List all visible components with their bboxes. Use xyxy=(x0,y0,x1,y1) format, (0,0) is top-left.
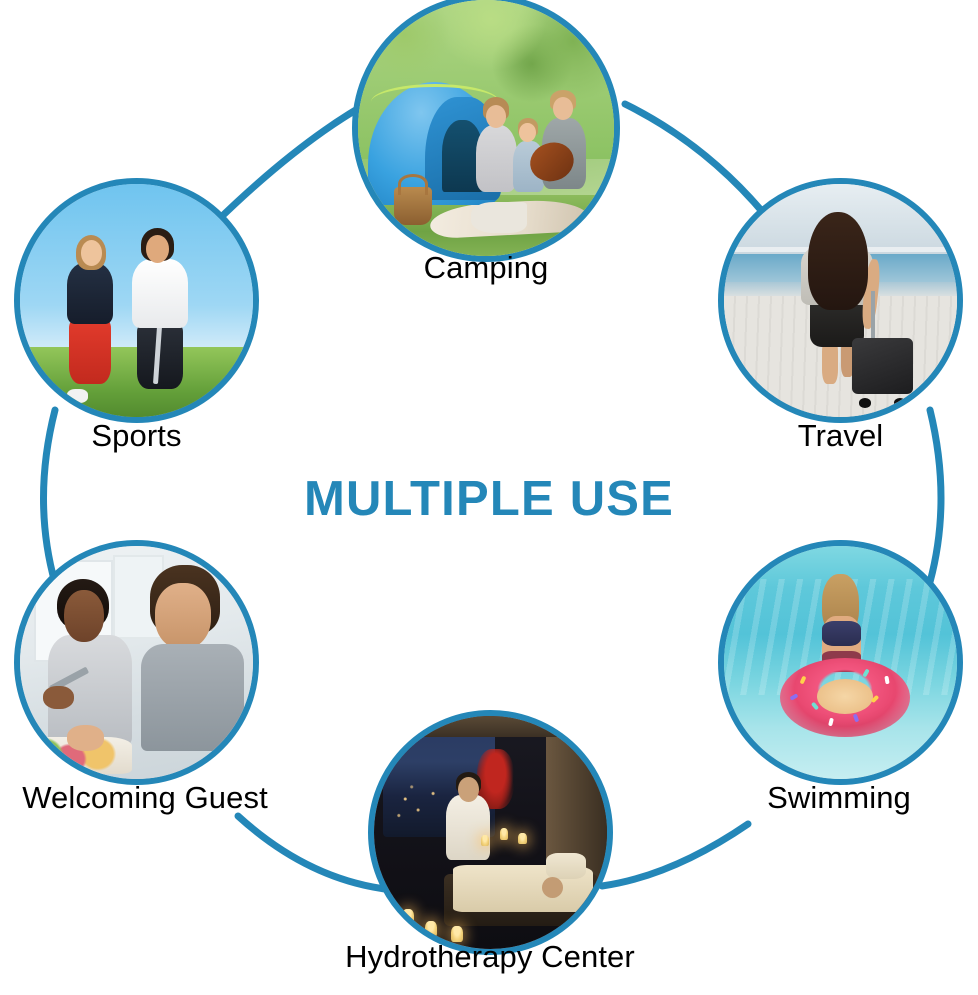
travel-scene xyxy=(724,184,957,417)
welcoming-guest-photo[interactable] xyxy=(14,540,259,785)
label-welcoming-guest: Welcoming Guest xyxy=(0,782,290,815)
swimming-scene xyxy=(724,546,957,779)
sports-scene xyxy=(20,184,253,417)
infographic-canvas: Camping Travel xyxy=(0,0,978,995)
welcoming-guest-scene xyxy=(20,546,253,779)
camping-scene xyxy=(358,0,614,256)
label-camping: Camping xyxy=(352,252,620,285)
label-swimming: Swimming xyxy=(700,782,978,815)
connector-hydrotherapy-to-welcoming xyxy=(238,816,385,889)
swimming-photo[interactable] xyxy=(718,540,963,785)
sports-photo[interactable] xyxy=(14,178,259,423)
camping-photo[interactable] xyxy=(352,0,620,262)
hydrotherapy-scene xyxy=(374,716,607,949)
label-sports: Sports xyxy=(14,420,259,453)
hydrotherapy-photo[interactable] xyxy=(368,710,613,955)
connector-swimming-to-hydrotherapy xyxy=(602,824,748,886)
label-hydrotherapy: Hydrotherapy Center xyxy=(300,941,680,974)
travel-photo[interactable] xyxy=(718,178,963,423)
label-travel: Travel xyxy=(718,420,963,453)
center-title: MULTIPLE USE xyxy=(0,471,978,527)
